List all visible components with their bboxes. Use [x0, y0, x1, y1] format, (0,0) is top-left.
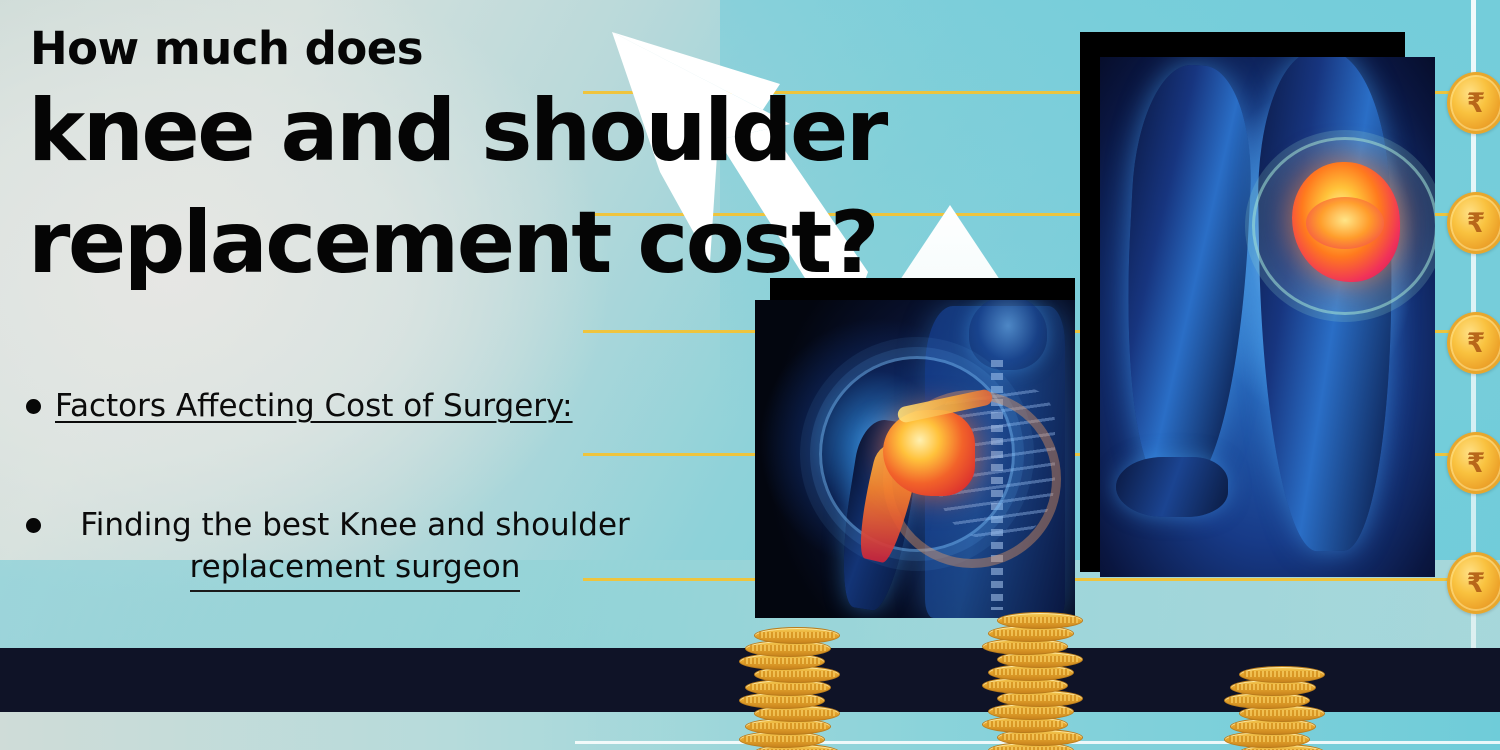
- rupee-coin-icon: ₹: [1447, 72, 1500, 134]
- bullet-text-2-line-2: replacement surgeon: [190, 547, 521, 593]
- coin-stack-left: [745, 631, 840, 750]
- rupee-coin-icon: ₹: [1447, 432, 1500, 494]
- headline-line-3: replacement cost?: [28, 200, 877, 286]
- headline-line-2: knee and shoulder: [28, 88, 886, 174]
- rupee-symbol: ₹: [1467, 210, 1486, 237]
- rupee-coin-icon: ₹: [1447, 312, 1500, 374]
- presentation-slide: How much does knee and shoulder replacem…: [0, 0, 1500, 750]
- rupee-coin-icon: ₹: [1447, 192, 1500, 254]
- knee-joint-hotspot-inner: [1306, 197, 1384, 249]
- coin-disc: [754, 627, 840, 644]
- coin-stack-right: [1230, 670, 1325, 750]
- rupee-coin-icon: ₹: [1447, 552, 1500, 614]
- headline-line-1: How much does: [30, 26, 423, 71]
- knee-xray-photo: [1100, 57, 1435, 577]
- bullet-dot-icon: [26, 518, 41, 533]
- bullet-text-2-line-1: Finding the best Knee and shoulder: [80, 507, 630, 543]
- bullet-item-1: Factors Affecting Cost of Surgery:: [26, 386, 573, 428]
- shoulder-joint-hotspot: [883, 410, 975, 496]
- bullet-text-2: Finding the best Knee and shoulder repla…: [55, 505, 655, 592]
- skull-shape: [969, 300, 1047, 370]
- rupee-symbol: ₹: [1467, 330, 1486, 357]
- rupee-symbol: ₹: [1467, 450, 1486, 477]
- bullet-text-1: Factors Affecting Cost of Surgery:: [55, 386, 573, 428]
- coin-stack-center: [988, 616, 1083, 750]
- coin-disc: [997, 612, 1083, 629]
- shoulder-xray-photo: [755, 300, 1075, 618]
- bullet-dot-icon: [26, 399, 41, 414]
- rupee-symbol: ₹: [1467, 570, 1486, 597]
- bullet-item-2: Finding the best Knee and shoulder repla…: [26, 505, 666, 592]
- rupee-symbol: ₹: [1467, 90, 1486, 117]
- coin-disc: [1239, 666, 1325, 683]
- foot-shape: [1116, 457, 1228, 517]
